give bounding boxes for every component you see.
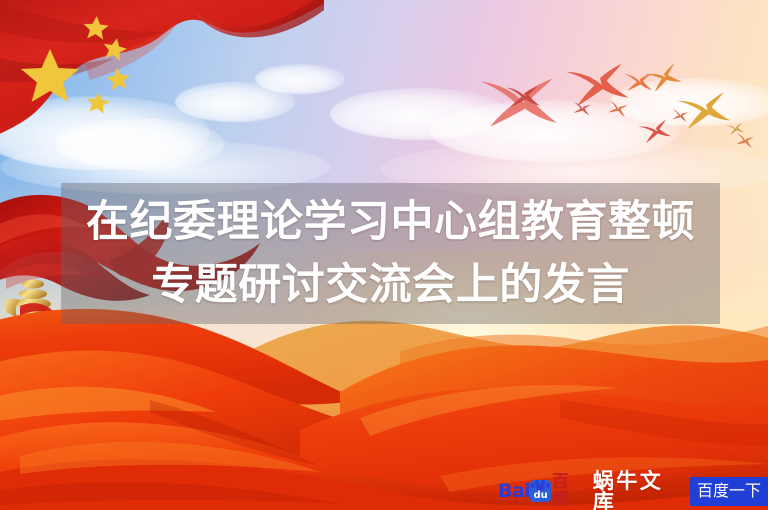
page-title-line-2: 专题研讨交流会上的发言	[151, 254, 630, 316]
title-overlay: 在纪委理论学习中心组教育整顿 专题研讨交流会上的发言	[61, 183, 720, 324]
baidu-logo[interactable]: Bai du 百度	[498, 480, 582, 502]
page-title-line-1: 在纪委理论学习中心组教育整顿	[86, 191, 695, 253]
watermark-bar: Bai du 百度 蜗牛文库 百度一下	[498, 477, 768, 505]
poster-canvas: 在纪委理论学习中心组教育整顿 专题研讨交流会上的发言 Bai du 百度 蜗牛文…	[0, 0, 768, 510]
baidu-paw-icon: du	[530, 480, 551, 502]
site-name-label: 蜗牛文库	[593, 470, 683, 510]
flock-of-doves-icon	[478, 36, 768, 176]
baidu-wordmark-latin: Bai	[498, 482, 530, 501]
baidu-search-button[interactable]: 百度一下	[690, 477, 768, 506]
chinese-national-flag-icon	[0, 0, 324, 192]
baidu-paw-label: du	[530, 491, 551, 501]
baidu-wordmark-chinese: 百度	[552, 474, 582, 508]
